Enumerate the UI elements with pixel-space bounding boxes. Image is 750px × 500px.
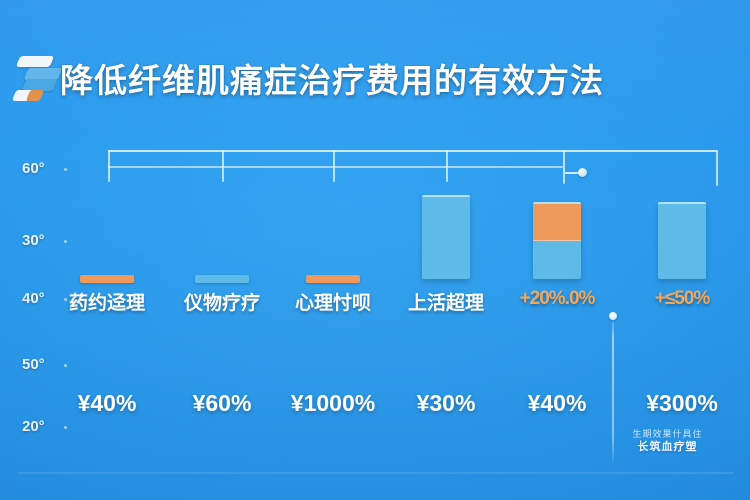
chart-baseline	[18, 472, 734, 474]
marker-connector	[565, 172, 579, 174]
y-axis-tick-dot	[64, 364, 67, 367]
chart-bar[interactable]	[422, 195, 470, 279]
legend-swatch	[80, 275, 134, 283]
legend-swatch	[195, 275, 249, 283]
rail-tick	[222, 150, 224, 182]
rail-tick	[333, 150, 335, 182]
y-axis-tick-label: 50°	[22, 356, 45, 373]
y-axis-tick-dot	[64, 168, 67, 171]
y-axis-tick-dot	[64, 240, 67, 243]
y-axis-tick-label: 20°	[22, 418, 45, 435]
rail-tick	[716, 150, 718, 186]
value-label: ¥300%	[607, 390, 750, 417]
y-axis-tick-label: 60°	[22, 160, 45, 177]
header: 降低纤维肌痛症治疗费用的有效方法	[0, 26, 750, 92]
chart-bar[interactable]	[658, 202, 706, 279]
chart-bar[interactable]	[533, 202, 581, 279]
top-rail	[108, 150, 717, 152]
page-title: 降低纤维肌痛症治疗费用的有效方法	[60, 54, 604, 102]
stacked-diagonal-bars-logo-icon	[12, 54, 64, 104]
y-axis-tick-dot	[64, 426, 67, 429]
footnote-line-2: 长筑血疗塑	[595, 438, 740, 454]
rail-tick	[446, 150, 448, 182]
legend-swatch	[306, 275, 360, 283]
secondary-rail	[108, 166, 563, 168]
chart-bar-segment-overlay[interactable]	[533, 204, 581, 241]
rail-tick	[108, 150, 110, 182]
divider-dot-icon	[609, 312, 617, 320]
rail-tick	[563, 150, 565, 184]
bar-annotation-label: +≤50%	[602, 288, 750, 310]
marker-dot-icon	[578, 168, 587, 177]
y-axis-tick-label: 30°	[22, 232, 45, 249]
